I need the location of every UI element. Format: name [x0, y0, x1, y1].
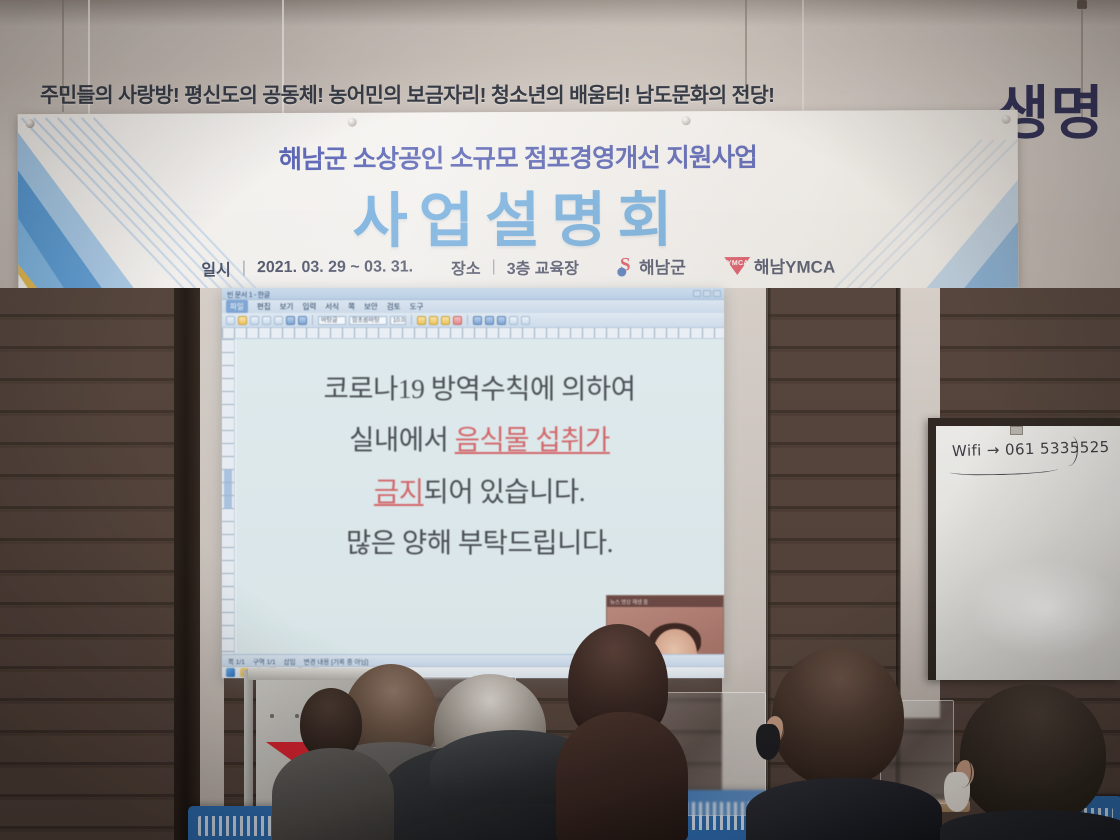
person-head: [772, 648, 904, 786]
person-body: [746, 778, 942, 840]
whiteboard-clip: [1010, 426, 1023, 435]
place-value: 3층 교육장: [507, 254, 579, 278]
wall-gap: [174, 288, 200, 840]
notice-segment-highlight: 음식물 섭취가: [455, 424, 610, 455]
banner-meta-row: 일시 | 2021. 03. 29 ~ 03. 31. 장소 | 3층 교육장 …: [18, 252, 1018, 281]
person-body: [940, 810, 1120, 840]
person-body: [272, 748, 394, 840]
haenam-swirl-icon: S: [617, 256, 636, 276]
style-select[interactable]: 바탕글: [318, 316, 346, 325]
toolbar-separator: [411, 315, 412, 325]
maximize-button[interactable]: [703, 290, 711, 297]
status-page: 쪽 1/1: [228, 656, 245, 666]
close-button[interactable]: [713, 290, 721, 297]
date-label: 일시: [201, 256, 231, 280]
align-center-icon[interactable]: [485, 316, 494, 325]
scroll-thumb[interactable]: [224, 469, 232, 509]
undo-icon[interactable]: [286, 316, 295, 325]
underline-icon[interactable]: [441, 316, 450, 325]
toolbar-separator: [467, 315, 468, 325]
person-head: [960, 684, 1106, 826]
align-left-icon[interactable]: [473, 316, 482, 325]
banner-grommet: [348, 118, 357, 127]
notice-line-1: 코로나19 방역수칙에 의하여: [235, 363, 724, 414]
haenam-ymca-label: 해남YMCA: [754, 253, 835, 278]
notice-line-3: 금지되어 있습니다.: [235, 466, 724, 517]
whiteboard-surface: Wifi → 061 5335525: [936, 426, 1120, 680]
banner-grommet: [1002, 115, 1011, 124]
projection-screen: 빈 문서 1 - 한글 파일 편집 보기 입력 서식 쪽 보안 검토 도구: [222, 288, 724, 678]
haenam-ymca-logo: YMCA 해남YMCA: [724, 253, 835, 278]
start-icon[interactable]: [226, 668, 235, 677]
video-popup-title: 뉴스 영상 재생 중: [610, 598, 648, 606]
notice-line-4: 많은 양해 부탁드립니다.: [235, 517, 724, 568]
menu-bar[interactable]: 파일 편집 보기 입력 서식 쪽 보안 검토 도구: [222, 300, 724, 313]
menu-item-edit[interactable]: 편집: [257, 301, 271, 312]
window-controls[interactable]: [693, 290, 721, 297]
window-title: 빈 문서 1 - 한글: [227, 290, 270, 300]
whiteboard-underline-stroke: [950, 465, 1058, 476]
meta-separator: |: [492, 258, 496, 276]
ceiling-shadow: [0, 0, 1120, 26]
menu-item-file[interactable]: 파일: [226, 300, 248, 313]
whiteboard-bracket-stroke: [1060, 435, 1079, 467]
toolbar[interactable]: 바탕글 함초롬바탕 10.0: [222, 313, 724, 328]
preview-icon[interactable]: [274, 316, 283, 325]
menu-item-review[interactable]: 검토: [387, 301, 401, 312]
notice-segment: 되어 있습니다.: [424, 476, 586, 507]
redo-icon[interactable]: [298, 316, 307, 325]
table-icon[interactable]: [521, 316, 530, 325]
slide-notice-text: 코로나19 방역수칙에 의하여 실내에서 음식물 섭취가 금지되어 있습니다. …: [235, 363, 724, 569]
menu-item-security[interactable]: 보안: [364, 301, 378, 312]
menu-item-tools[interactable]: 도구: [410, 301, 424, 312]
event-banner: 해남군 소상공인 소규모 점포경영개선 지원사업 사업설명회 일시 | 2021…: [18, 110, 1019, 292]
place-label: 장소: [451, 255, 481, 279]
status-changes: 변경 내용 [기록 중 아님]: [304, 656, 369, 666]
whiteboard-wifi-note: Wifi → 061 5335525: [952, 438, 1110, 460]
notice-segment: 실내에서: [349, 424, 455, 455]
document-page[interactable]: 코로나19 방역수칙에 의하여 실내에서 음식물 섭취가 금지되어 있습니다. …: [235, 339, 724, 654]
bold-icon[interactable]: [417, 316, 426, 325]
horizontal-ruler: [222, 328, 724, 339]
status-section: 구역 1/1: [253, 656, 276, 666]
menu-item-input[interactable]: 입력: [302, 301, 316, 312]
mask-strap: [952, 756, 972, 788]
window-titlebar: 빈 문서 1 - 한글: [222, 288, 724, 300]
italic-icon[interactable]: [429, 316, 438, 325]
font-select[interactable]: 함초롬바탕: [349, 316, 387, 325]
status-insert: 삽입: [284, 656, 296, 666]
font-size-select[interactable]: 10.0: [390, 316, 406, 325]
wall-slogan-text: 주민들의 사랑방! 평신도의 공동체! 농어민의 보금자리! 청소년의 배움터!…: [40, 78, 910, 108]
menu-item-format[interactable]: 서식: [325, 301, 339, 312]
haenam-county-label: 해남군: [639, 253, 686, 278]
minimize-button[interactable]: [693, 290, 701, 297]
vertical-ruler: [222, 339, 235, 654]
banner-main-title: 사업설명회: [18, 170, 1018, 261]
haenam-dot-glyph: [617, 267, 626, 276]
banner-grommet: [682, 116, 691, 125]
seminar-room-photo: 주민들의 사랑방! 평신도의 공동체! 농어민의 보금자리! 청소년의 배움터!…: [0, 0, 1120, 840]
print-icon[interactable]: [262, 316, 271, 325]
bullet-list-icon[interactable]: [509, 316, 518, 325]
haenam-county-logo: S 해남군: [617, 253, 686, 278]
notice-line-2: 실내에서 음식물 섭취가: [235, 414, 724, 465]
whiteboard-frame: Wifi → 061 5335525: [928, 418, 1120, 680]
meta-separator: |: [242, 259, 246, 277]
notice-segment-highlight: 금지: [374, 476, 424, 507]
mask-strap: [764, 712, 784, 742]
banner-grommet: [26, 119, 35, 128]
save-icon[interactable]: [250, 316, 259, 325]
ymca-mark-text: YMCA: [727, 260, 747, 267]
font-color-icon[interactable]: [453, 316, 462, 325]
toolbar-separator: [312, 315, 313, 325]
menu-item-page[interactable]: 쪽: [348, 301, 355, 312]
hancom-word-processor-window[interactable]: 빈 문서 1 - 한글 파일 편집 보기 입력 서식 쪽 보안 검토 도구: [222, 288, 724, 678]
align-right-icon[interactable]: [497, 316, 506, 325]
open-folder-icon[interactable]: [238, 316, 247, 325]
video-popup-titlebar: 뉴스 영상 재생 중: [607, 596, 723, 607]
person-hair-body: [556, 712, 688, 840]
ymca-triangle-icon: YMCA: [724, 255, 750, 275]
new-document-icon[interactable]: [226, 316, 235, 325]
notice-segment: 많은 양해 부탁드립니다.: [346, 527, 613, 558]
menu-item-view[interactable]: 보기: [280, 301, 294, 312]
date-value: 2021. 03. 29 ~ 03. 31.: [257, 258, 413, 277]
notice-segment: 코로나19 방역수칙에 의하여: [323, 373, 635, 404]
